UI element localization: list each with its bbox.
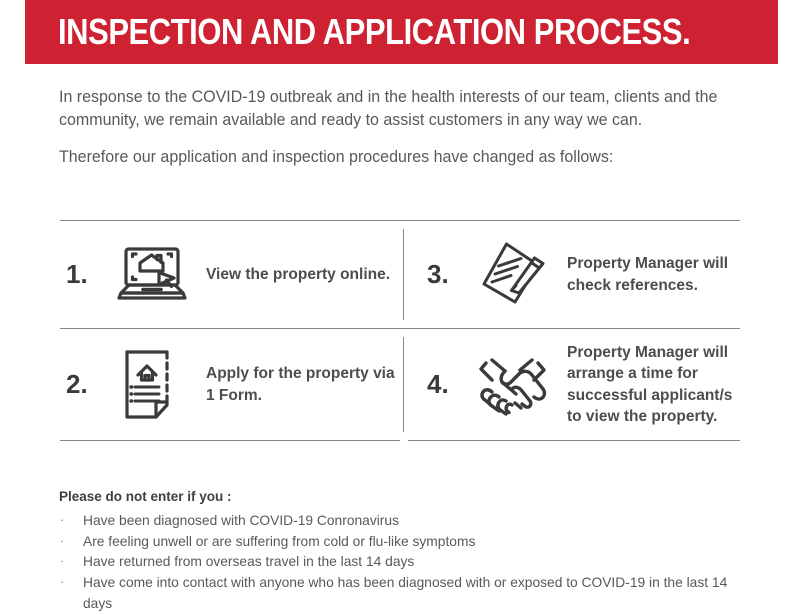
steps-row-1: 1. View the property online. [60,221,740,328]
header-banner: INSPECTION AND APPLICATION PROCESS. [25,0,778,64]
bullet-icon: · [60,510,64,530]
application-form-house-icon [104,349,200,421]
step-number-1: 1. [60,259,104,290]
list-item-text: Have come into contact with anyone who h… [83,575,727,611]
intro-text-block: In response to the COVID-19 outbreak and… [59,86,749,168]
warning-list: · Have been diagnosed with COVID-19 Conr… [59,511,759,614]
list-item: · Have returned from overseas travel in … [59,552,759,573]
bullet-icon: · [60,572,64,592]
step-number-4: 4. [421,369,465,400]
steps-divider-gap [400,440,408,441]
step-label-1: View the property online. [200,264,390,285]
document-pen-icon [465,240,561,310]
steps-divider-bottom [60,440,740,441]
steps-row-2: 2. Apply for the property via 1 Form. 4. [60,329,740,440]
handshake-icon [465,349,561,421]
list-item-text: Have returned from overseas travel in th… [83,554,414,569]
step-item-4: 4. [403,329,740,440]
bullet-icon: · [60,551,64,571]
laptop-house-cursor-icon [104,245,200,305]
step-item-1: 1. View the property online. [60,221,403,328]
list-item-text: Are feeling unwell or are suffering from… [83,534,475,549]
list-item-text: Have been diagnosed with COVID-19 Conron… [83,513,399,528]
step-item-3: 3. Property Manager will check reference… [403,221,740,328]
warning-section: Please do not enter if you : · Have been… [59,489,759,614]
page-title: INSPECTION AND APPLICATION PROCESS. [58,11,690,53]
step-label-3: Property Manager will check references. [561,253,740,296]
step-label-4: Property Manager will arrange a time for… [561,342,740,428]
list-item: · Have come into contact with anyone who… [59,573,759,614]
step-item-2: 2. Apply for the property via 1 Form. [60,329,403,440]
step-label-2: Apply for the property via 1 Form. [200,363,403,406]
bullet-icon: · [60,531,64,551]
steps-section: 1. View the property online. [60,220,740,441]
step-number-3: 3. [421,259,465,290]
intro-paragraph-2: Therefore our application and inspection… [59,146,728,169]
list-item: · Have been diagnosed with COVID-19 Conr… [59,511,759,532]
steps-divider-bottom-left [60,440,400,441]
steps-divider-bottom-right [408,440,740,441]
list-item: · Are feeling unwell or are suffering fr… [59,532,759,553]
warning-title: Please do not enter if you : [59,489,759,504]
intro-paragraph-1: In response to the COVID-19 outbreak and… [59,86,728,132]
step-number-2: 2. [60,369,104,400]
